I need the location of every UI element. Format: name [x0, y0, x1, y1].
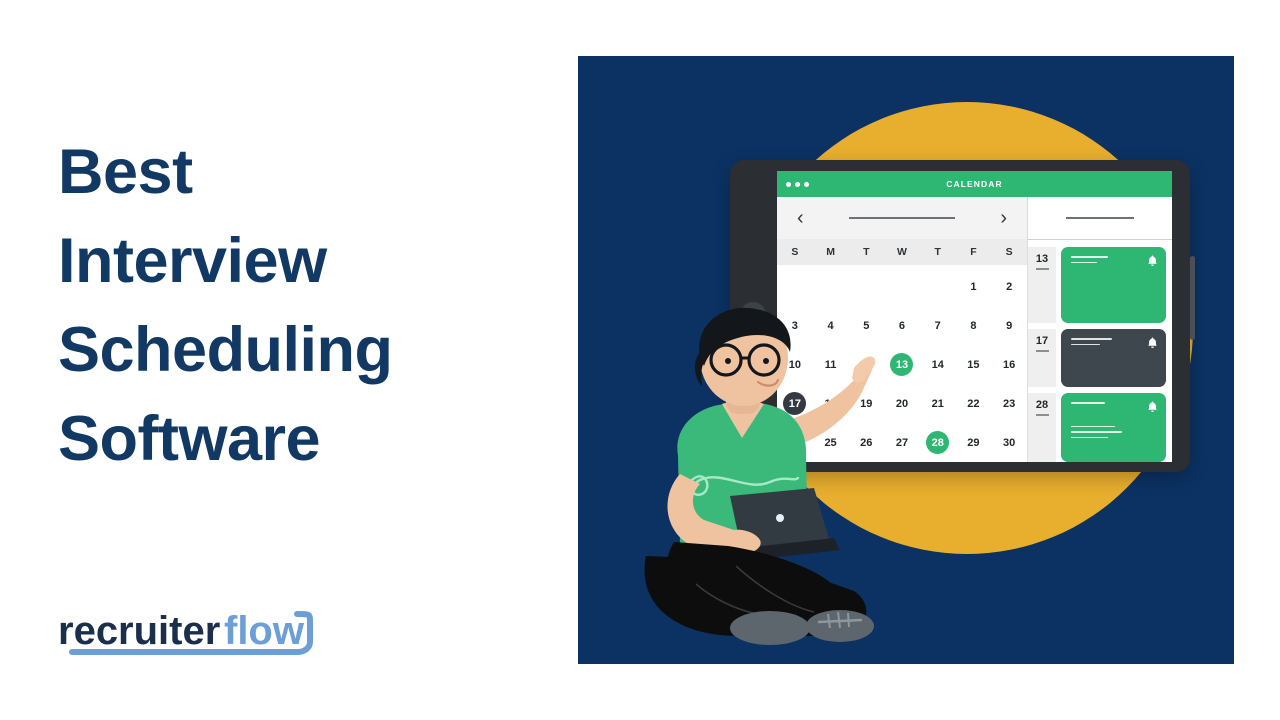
- illustration-panel: CALENDAR ‹ › SMTWTFS 1234567891011121314…: [578, 56, 1234, 664]
- event-date-label: 28: [1028, 393, 1056, 462]
- bell-icon: [1147, 255, 1158, 267]
- events-title-placeholder: [1066, 217, 1134, 219]
- logo-secondary-text: flow: [224, 609, 305, 653]
- calendar-app-title: CALENDAR: [777, 179, 1172, 189]
- calendar-weekday-0: S: [777, 246, 813, 258]
- calendar-day-14[interactable]: 14: [920, 353, 956, 376]
- event-date-underline: [1036, 268, 1049, 270]
- month-label-placeholder: [849, 217, 955, 219]
- person-shoe-left: [730, 611, 810, 645]
- event-row[interactable]: 28: [1028, 393, 1172, 462]
- event-date-number: 13: [1036, 254, 1048, 265]
- person-legs-front: [666, 542, 841, 624]
- calendar-weekday-1: M: [813, 246, 849, 258]
- page-title: Best Interview Scheduling Software: [58, 128, 528, 484]
- calendar-day-16[interactable]: 16: [991, 353, 1027, 376]
- event-date-number: 17: [1036, 336, 1048, 347]
- event-card[interactable]: [1061, 247, 1166, 323]
- calendar-day-empty: [848, 275, 884, 298]
- recruiterflow-logo[interactable]: recruiter flow: [52, 598, 352, 668]
- calendar-day-21[interactable]: 21: [920, 392, 956, 415]
- event-card[interactable]: [1061, 393, 1166, 462]
- calendar-day-8[interactable]: 8: [956, 314, 992, 337]
- calendar-day-2[interactable]: 2: [991, 275, 1027, 298]
- events-list: 131728: [1028, 240, 1172, 462]
- calendar-weekday-header: SMTWTFS: [777, 239, 1027, 265]
- calendar-day-empty: [813, 275, 849, 298]
- tablet-side-button: [1190, 256, 1195, 340]
- calendar-day-28[interactable]: 28: [920, 431, 956, 454]
- slide-canvas: Best Interview Scheduling Software recru…: [0, 0, 1280, 720]
- calendar-weekday-2: T: [848, 246, 884, 258]
- calendar-month-nav: ‹ ›: [777, 197, 1027, 239]
- calendar-weekday-3: W: [884, 246, 920, 258]
- event-row[interactable]: 13: [1028, 247, 1172, 323]
- calendar-day-23[interactable]: 23: [991, 392, 1027, 415]
- event-text-lines: [1071, 402, 1156, 438]
- chevron-left-icon[interactable]: ‹: [797, 208, 804, 228]
- calendar-day-empty: [777, 275, 813, 298]
- events-header: [1028, 197, 1172, 240]
- chevron-right-icon[interactable]: ›: [1000, 208, 1007, 228]
- calendar-weekday-5: F: [956, 246, 992, 258]
- bell-icon: [1147, 337, 1158, 349]
- event-date-underline: [1036, 414, 1049, 416]
- event-date-label: 13: [1028, 247, 1056, 323]
- person-pointing-hand: [852, 356, 875, 382]
- calendar-day-29[interactable]: 29: [956, 431, 992, 454]
- person-eye-right: [763, 358, 769, 364]
- logo-primary-text: recruiter: [58, 609, 220, 653]
- person-illustration: [618, 306, 908, 656]
- event-card[interactable]: [1061, 329, 1166, 387]
- bell-icon: [1147, 401, 1158, 413]
- event-date-number: 28: [1036, 400, 1048, 411]
- event-text-lines: [1071, 256, 1156, 263]
- event-date-label: 17: [1028, 329, 1056, 387]
- laptop-logo: [776, 514, 784, 522]
- calendar-day-empty: [884, 275, 920, 298]
- calendar-app-topbar: CALENDAR: [777, 171, 1172, 197]
- calendar-day-22[interactable]: 22: [956, 392, 992, 415]
- event-date-underline: [1036, 350, 1049, 352]
- calendar-day-7[interactable]: 7: [920, 314, 956, 337]
- calendar-day-15[interactable]: 15: [956, 353, 992, 376]
- events-column: 131728: [1028, 197, 1172, 462]
- event-row[interactable]: 17: [1028, 329, 1172, 387]
- calendar-day-30[interactable]: 30: [991, 431, 1027, 454]
- window-dots-icon: [786, 182, 809, 187]
- calendar-weekday-4: T: [920, 246, 956, 258]
- calendar-day-empty: [920, 275, 956, 298]
- calendar-day-1[interactable]: 1: [956, 275, 992, 298]
- person-eye-left: [725, 358, 731, 364]
- calendar-day-9[interactable]: 9: [991, 314, 1027, 337]
- calendar-weekday-6: S: [991, 246, 1027, 258]
- event-text-lines: [1071, 338, 1156, 345]
